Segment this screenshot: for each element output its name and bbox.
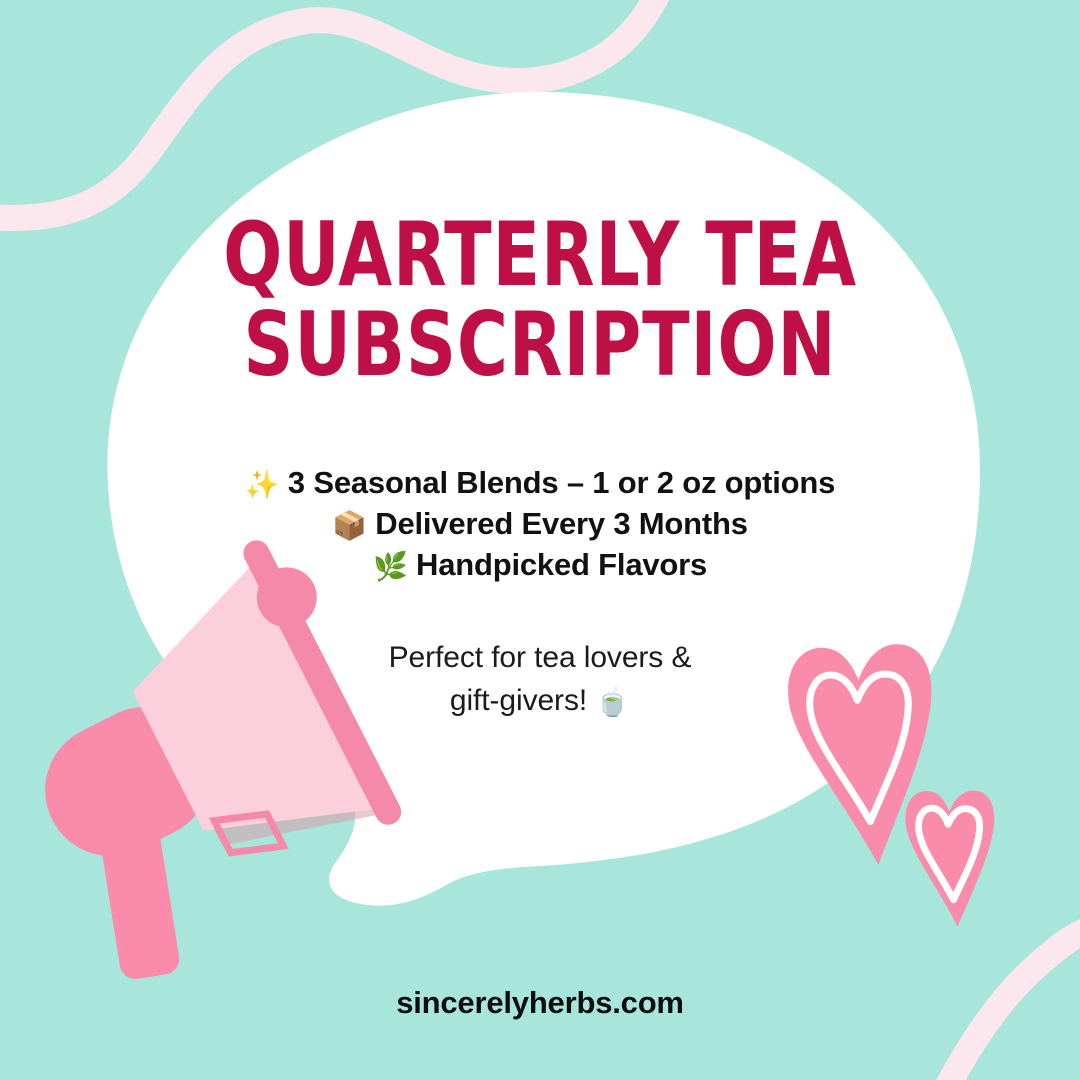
tagline-line-2: gift-givers! 🍵 [120,680,960,723]
heart-small [902,784,1005,931]
feature-text: Delivered Every 3 Months [375,506,748,541]
list-item: 📦 Delivered Every 3 Months [120,503,960,544]
sparkles-emoji: ✨ [245,468,280,501]
heart-small-inner-outline [917,803,987,902]
megaphone-bracket [214,798,283,869]
title-line-2: Subscription [170,300,909,390]
feature-text: 3 Seasonal Blends – 1 or 2 oz options [288,465,835,500]
feature-text: Handpicked Flavors [416,547,707,582]
footer-website-url: sincerelyherbs.com [0,985,1080,1021]
feature-list: ✨ 3 Seasonal Blends – 1 or 2 oz options … [120,462,960,586]
title-line-1: Quarterly Tea [170,210,909,300]
megaphone-handle [99,824,182,982]
teacup-emoji: 🍵 [595,685,630,718]
wavy-line-top-left [0,0,672,218]
list-item: 🌿 Handpicked Flavors [120,544,960,585]
tagline: Perfect for tea lovers & gift-givers! 🍵 [120,637,960,722]
promo-poster: Quarterly Tea Subscription ✨ 3 Seasonal … [0,0,1080,1080]
tagline-line-2-text: gift-givers! [450,684,587,717]
package-emoji: 📦 [332,509,367,542]
herb-emoji: 🌿 [373,550,408,583]
tagline-line-1: Perfect for tea lovers & [120,637,960,680]
page-title: Quarterly Tea Subscription [170,210,909,390]
bubble-content: Quarterly Tea Subscription ✨ 3 Seasonal … [120,210,960,722]
list-item: ✨ 3 Seasonal Blends – 1 or 2 oz options [120,462,960,503]
